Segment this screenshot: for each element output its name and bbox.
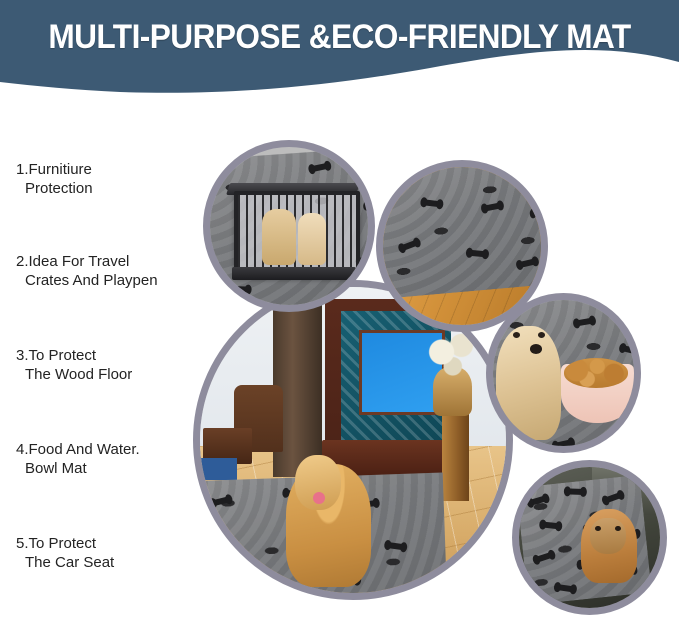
bone-icon xyxy=(529,495,547,505)
bone-icon xyxy=(311,163,329,172)
bone-icon xyxy=(510,167,528,176)
crate-scene xyxy=(210,147,368,305)
bone-icon xyxy=(542,521,560,529)
bone-icon xyxy=(362,258,368,269)
bone-icon xyxy=(240,568,258,576)
crate-dog-right xyxy=(298,213,326,265)
bone-icon xyxy=(483,202,501,211)
crate-base xyxy=(232,267,356,280)
living-room-scene xyxy=(200,287,506,593)
pet-mat xyxy=(383,167,541,299)
bone-icon xyxy=(632,419,634,427)
collage-photo-food-bowl xyxy=(486,293,641,453)
bone-icon xyxy=(533,210,541,217)
puppy-eye-right xyxy=(615,526,621,531)
bone-icon xyxy=(231,286,248,293)
bone-icon xyxy=(273,589,291,593)
bone-icon xyxy=(423,199,441,207)
bone-icon xyxy=(556,584,574,592)
room-blue-rug xyxy=(200,458,237,479)
bone-icon xyxy=(535,552,553,563)
crate-dog-left xyxy=(262,209,296,265)
dog-eye-left xyxy=(513,332,520,338)
bone-icon xyxy=(576,317,594,326)
puppy-eye-left xyxy=(595,526,601,531)
bone-icon xyxy=(566,489,583,496)
bone-icon xyxy=(387,542,405,550)
food-bowl-scene xyxy=(493,300,634,446)
header-banner: MULTI-PURPOSE &ECO-FRIENDLY MAT xyxy=(0,0,679,100)
room-pillar xyxy=(442,409,470,501)
bone-icon xyxy=(398,169,416,179)
bone-icon xyxy=(518,259,536,269)
page-title: MULTI-PURPOSE &ECO-FRIENDLY MAT xyxy=(24,18,655,57)
collage-photo-crate xyxy=(203,140,375,312)
bone-icon xyxy=(366,203,368,211)
bone-icon xyxy=(555,439,573,446)
bone-icon xyxy=(469,250,486,257)
kibble xyxy=(564,358,629,387)
puppy-face xyxy=(590,518,627,555)
room-flowers xyxy=(423,330,484,385)
bone-icon xyxy=(202,533,220,542)
golden-retriever xyxy=(496,326,561,440)
bone-icon xyxy=(604,492,622,503)
collage-photo-car-seat xyxy=(512,460,667,615)
photo-collage xyxy=(0,108,679,642)
car-seat-scene xyxy=(519,467,660,608)
bone-icon xyxy=(211,496,229,506)
bone-icon xyxy=(621,345,634,355)
bone-icon xyxy=(401,240,419,252)
crate-bars xyxy=(234,191,360,277)
